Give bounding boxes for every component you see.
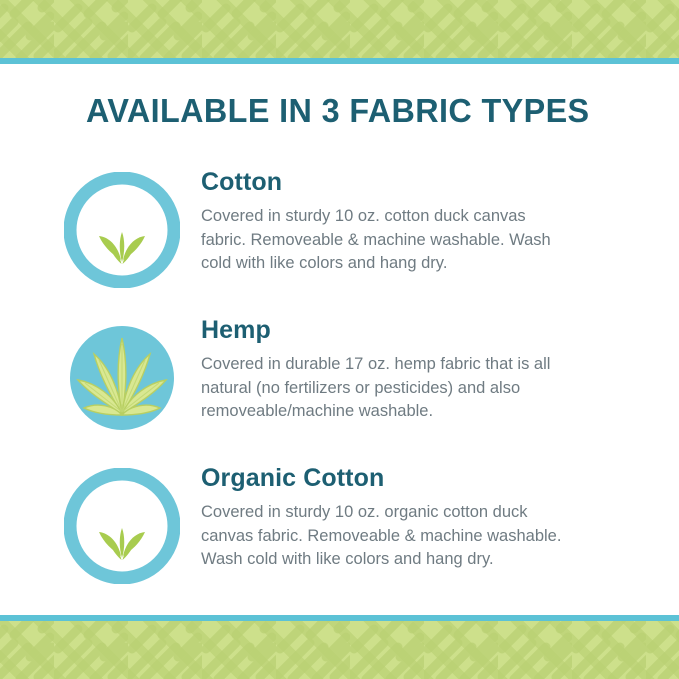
top-band-pattern — [0, 0, 679, 58]
infographic-page: AVAILABLE IN 3 FABRIC TYPES — [0, 0, 679, 679]
fabric-title-hemp: Hemp — [201, 316, 619, 344]
hemp-text-block: Hemp Covered in durable 17 oz. hemp fabr… — [180, 308, 679, 424]
fabric-title-cotton: Cotton — [201, 168, 619, 196]
cotton-text-block: Cotton Covered in sturdy 10 oz. cotton d… — [180, 160, 679, 276]
fabric-row-cotton: Cotton Covered in sturdy 10 oz. cotton d… — [0, 160, 679, 288]
top-pattern-band — [0, 0, 679, 64]
bottom-band-dash-pattern — [0, 621, 679, 679]
hemp-leaf-icon — [64, 320, 180, 436]
page-title: AVAILABLE IN 3 FABRIC TYPES — [86, 92, 590, 130]
hemp-leaf-icon-wrap — [64, 308, 180, 436]
top-teal-divider — [0, 58, 679, 64]
fabric-row-hemp: Hemp Covered in durable 17 oz. hemp fabr… — [0, 308, 679, 436]
cotton-boll-icon-wrap — [64, 160, 180, 288]
fabric-description-hemp: Covered in durable 17 oz. hemp fabric th… — [201, 353, 567, 424]
fabric-description-cotton: Covered in sturdy 10 oz. cotton duck can… — [201, 205, 567, 276]
top-band-dash-pattern — [0, 0, 679, 58]
organic-cotton-boll-icon-wrap — [64, 456, 180, 584]
cotton-boll-icon — [64, 468, 180, 584]
bottom-pattern-band — [0, 615, 679, 679]
cotton-boll-icon — [64, 172, 180, 288]
fabric-description-organic-cotton: Covered in sturdy 10 oz. organic cotton … — [201, 501, 567, 572]
fabric-list: Cotton Covered in sturdy 10 oz. cotton d… — [0, 160, 679, 604]
fabric-title-organic-cotton: Organic Cotton — [201, 464, 619, 492]
organic-cotton-text-block: Organic Cotton Covered in sturdy 10 oz. … — [180, 456, 679, 572]
fabric-row-organic-cotton: Organic Cotton Covered in sturdy 10 oz. … — [0, 456, 679, 584]
bottom-band-pattern — [0, 621, 679, 679]
